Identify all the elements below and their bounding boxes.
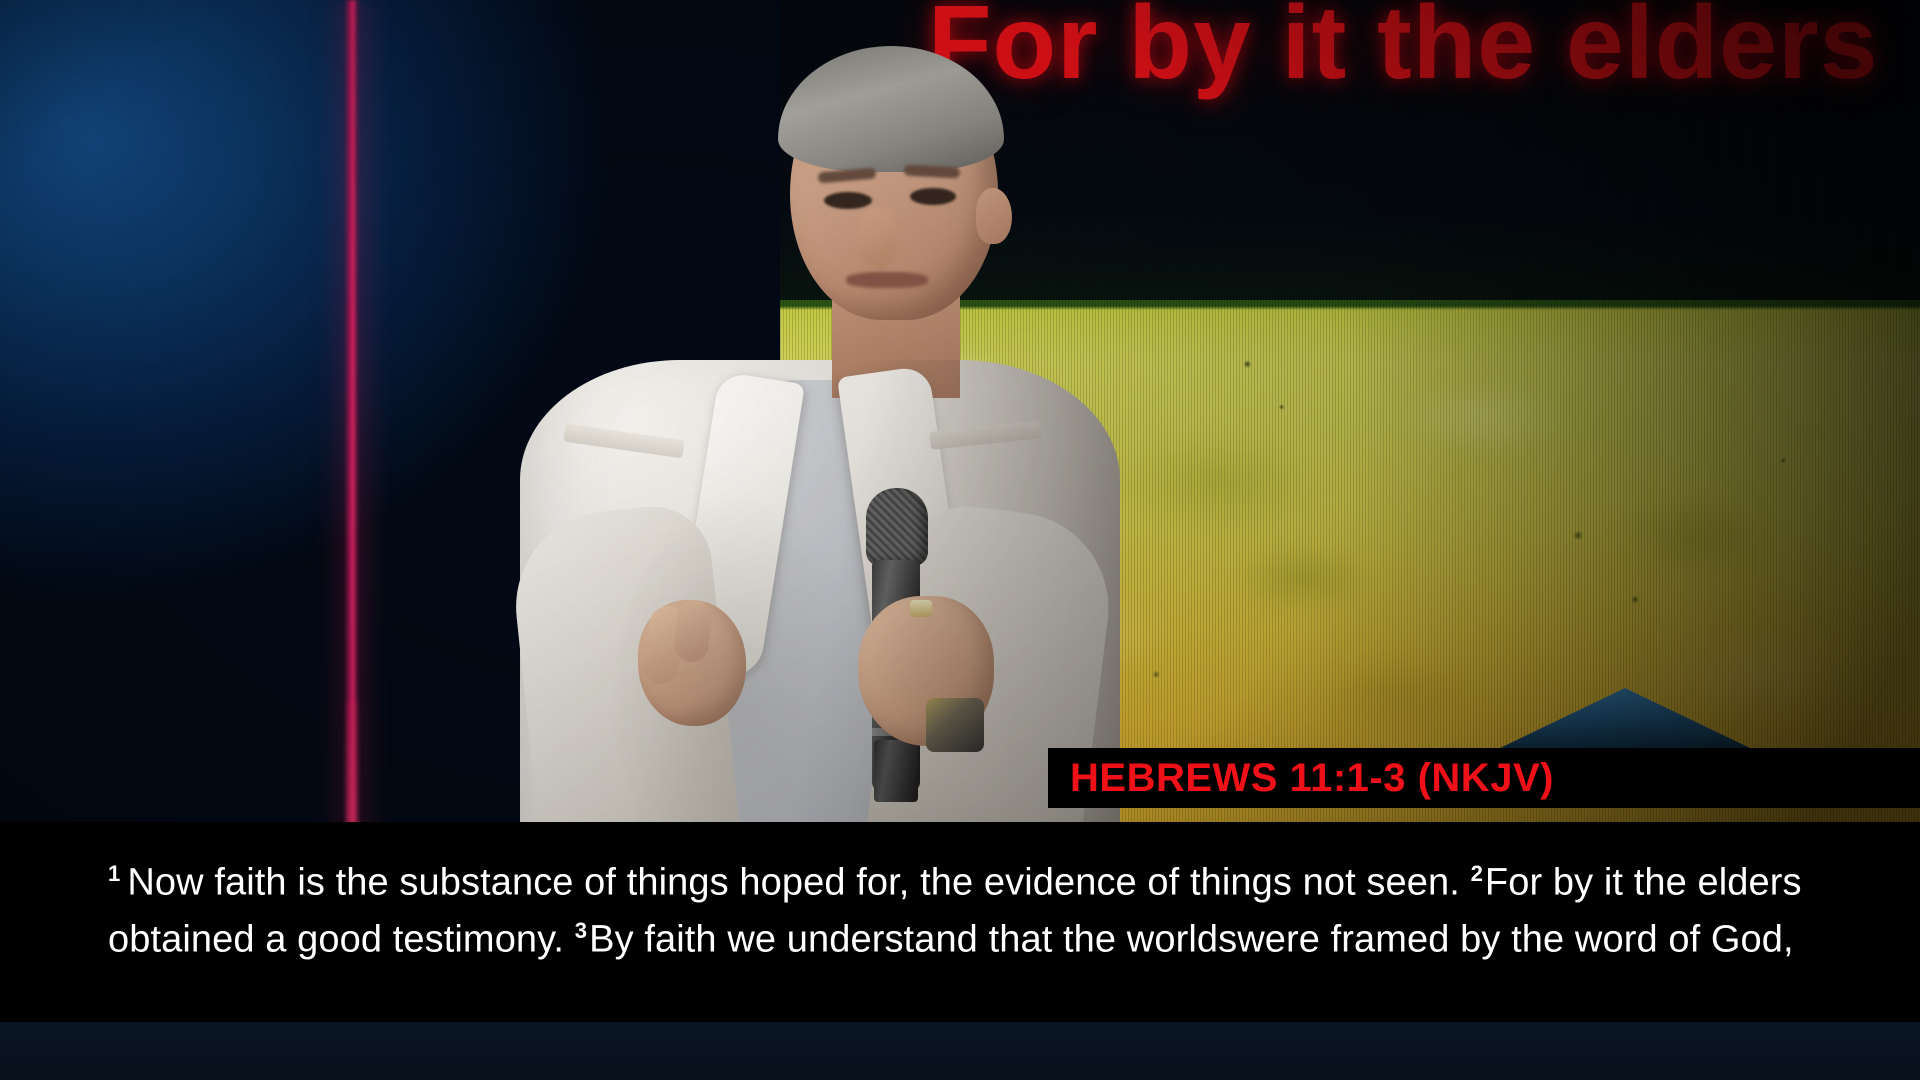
verse-marker-2: 2 [1471, 861, 1483, 886]
bottom-stage-strip [0, 1022, 1920, 1080]
scripture-reference-label: HEBREWS 11:1-3 (NKJV) [1070, 756, 1554, 801]
verse-text-1: Now faith is the substance of things hop… [127, 862, 1460, 904]
verse-text-3: By faith we understand that the worldswe… [589, 918, 1794, 960]
verse-marker-3: 3 [575, 918, 587, 943]
caption-text: 1Now faith is the substance of things ho… [108, 850, 1828, 963]
video-frame: For by it the elders [0, 0, 1920, 1080]
verse-marker-1: 1 [108, 861, 120, 886]
caption-bar: 1Now faith is the substance of things ho… [0, 822, 1920, 1022]
scripture-reference-banner: HEBREWS 11:1-3 (NKJV) [1048, 748, 1920, 808]
